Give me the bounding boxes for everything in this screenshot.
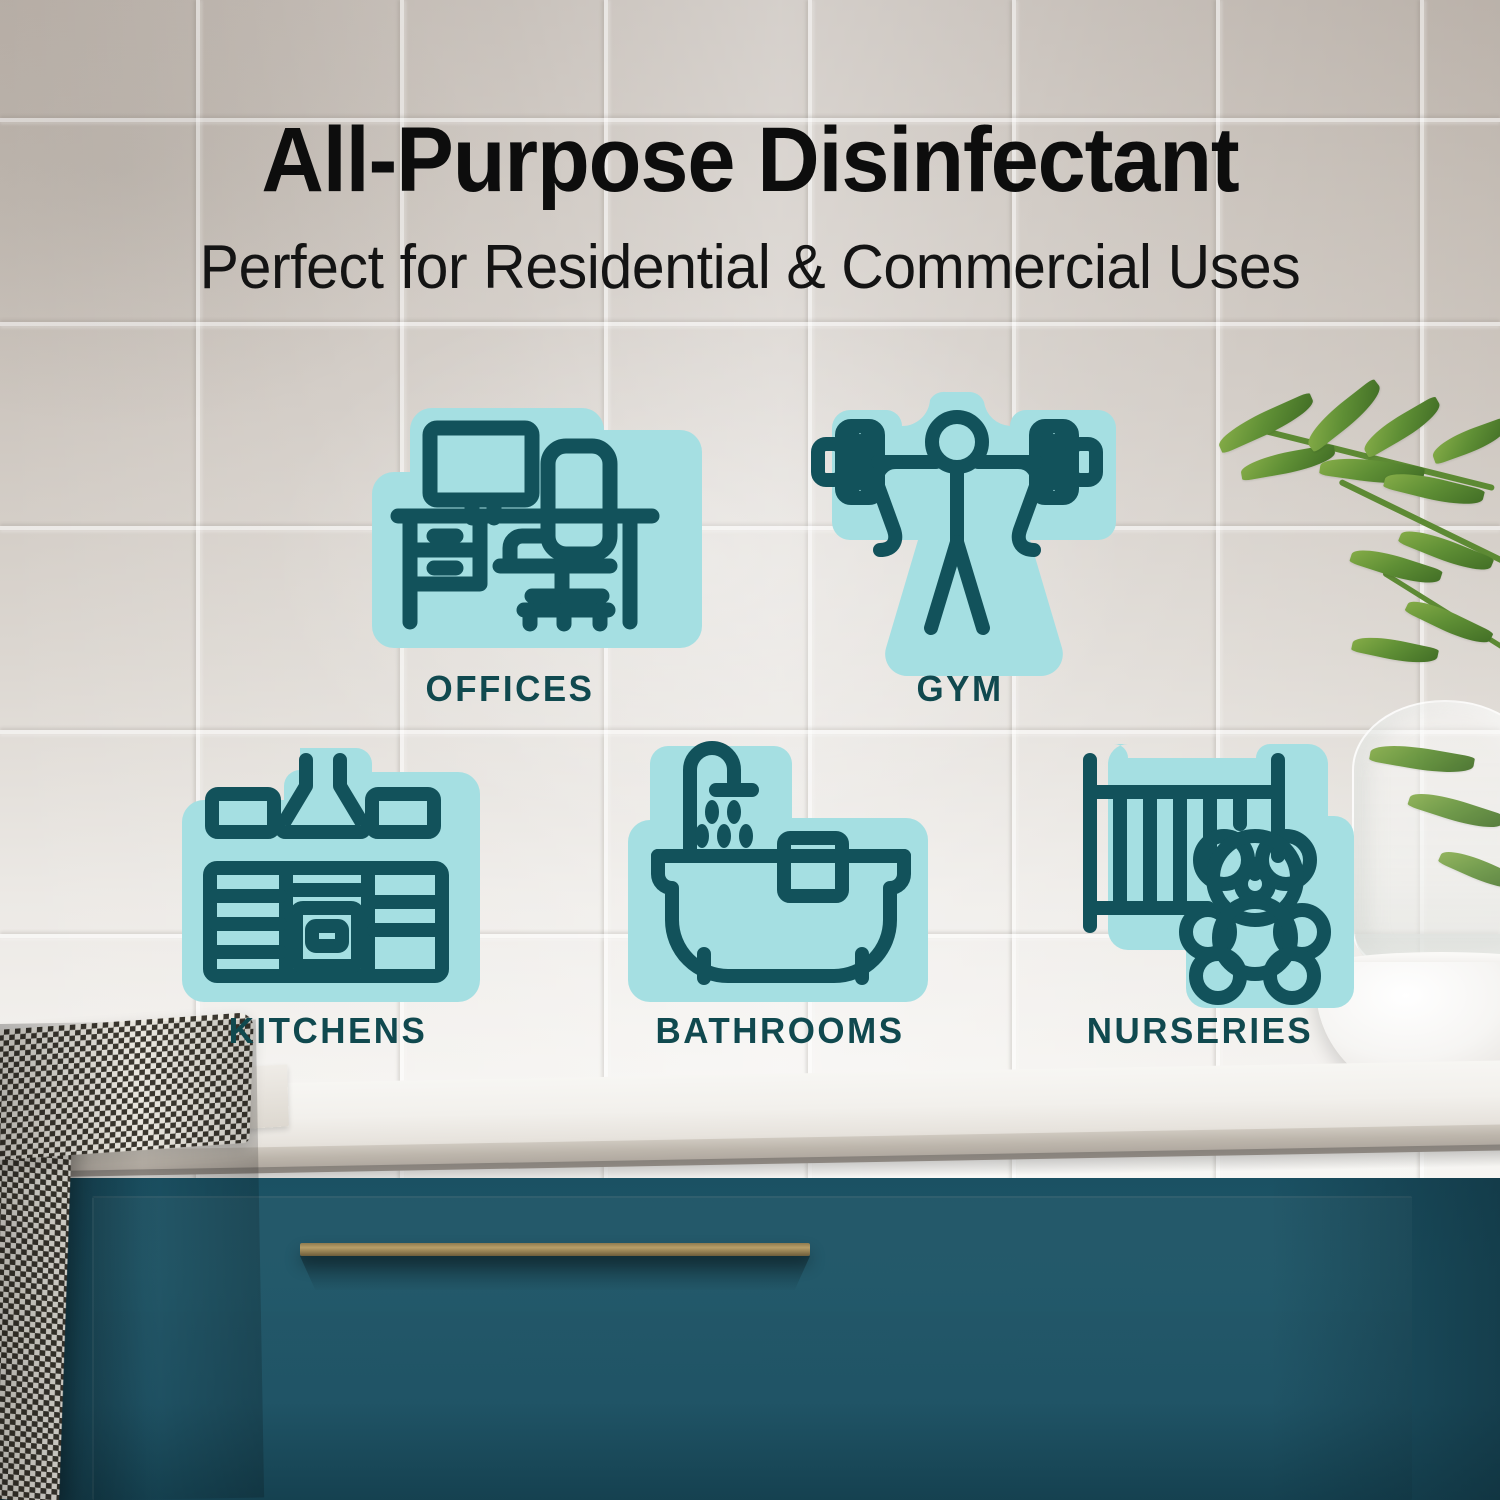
crib-teddy-bear-icon[interactable] (1052, 736, 1352, 1004)
category-label-gym: GYM (795, 668, 1125, 710)
page-title: All-Purpose Disinfectant (45, 108, 1455, 213)
cabinet-drawer (92, 1196, 1412, 1500)
cabinet-handle (300, 1243, 810, 1256)
category-label-bathrooms: BATHROOMS (605, 1010, 954, 1052)
bathtub-shower-icon[interactable] (628, 742, 934, 1002)
weightlifter-icon[interactable] (792, 392, 1122, 654)
product-lifestyle-banner: All-Purpose Disinfectant Perfect for Res… (0, 0, 1500, 1500)
handle-groove (300, 1256, 810, 1290)
cabinet-right-shadow (1270, 1178, 1500, 1500)
category-label-kitchens: KITCHENS (153, 1010, 502, 1052)
category-label-nurseries: NURSERIES (1025, 1010, 1374, 1052)
office-desk-icon[interactable] (372, 398, 702, 648)
page-subtitle: Perfect for Residential & Commercial Use… (38, 232, 1463, 303)
kitchen-cabinets-icon[interactable] (176, 744, 486, 1002)
category-label-offices: OFFICES (335, 668, 684, 710)
